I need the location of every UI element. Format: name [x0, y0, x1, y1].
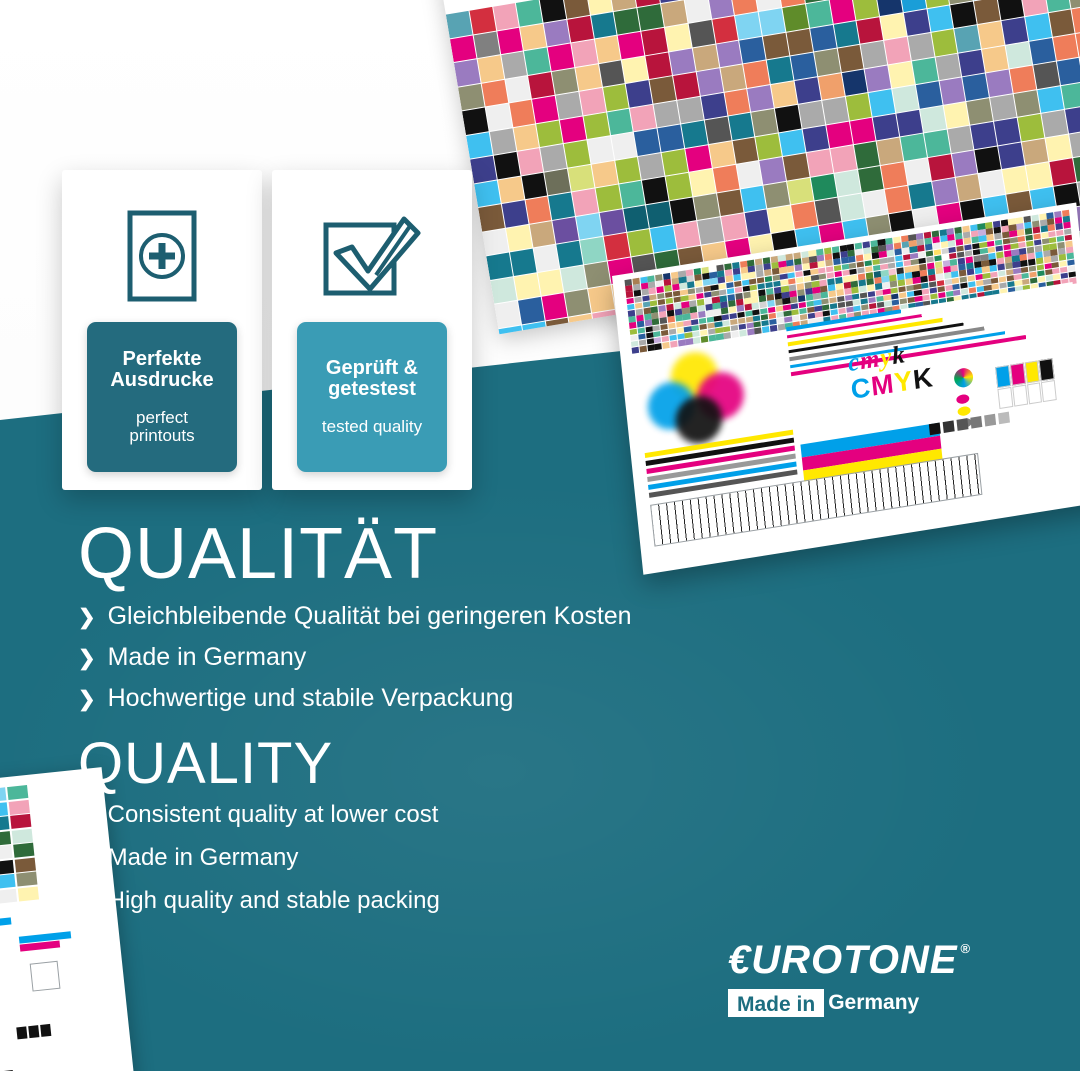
marketing-copy: QUALITÄT ❯ Gleichbleibende Qualität bei …: [78, 518, 632, 932]
cyan-bar: [0, 917, 11, 930]
logo-brand-text: UROTONE: [751, 940, 957, 980]
bullet-text: Made in Germany: [108, 846, 299, 870]
page-plus-icon: [126, 196, 198, 316]
checkbox-pencil-icon: [320, 196, 424, 316]
badge-title: Geprüft & getestest: [326, 358, 418, 400]
bullet-text: High quality and stable packing: [108, 889, 440, 913]
badge-sub-line1: tested quality: [322, 417, 422, 436]
cmyk-rosette: [643, 345, 751, 444]
black-step-blocks-a: [16, 1024, 51, 1039]
badge-perfect-printouts: Perfekte Ausdrucke perfect printouts: [87, 322, 237, 472]
list-item: ❯ Hochwertige und stabile Verpackung: [78, 686, 632, 711]
badge-sub-line1: perfect: [136, 408, 188, 427]
badge-title-line1: Perfekte: [123, 348, 202, 370]
promo-banner: cmyk CMYK: [0, 0, 1080, 1071]
bullet-text: Gleichbleibende Qualität bei geringeren …: [108, 604, 632, 629]
headline-english: QUALITY: [78, 735, 632, 793]
badge-title-line2: Ausdrucke: [110, 369, 213, 391]
bullet-list-german: ❯ Gleichbleibende Qualität bei geringere…: [78, 604, 632, 711]
badge-title-line1: Geprüft &: [326, 357, 418, 379]
list-item: ❯ Made in Germany: [78, 846, 632, 870]
badge-sub-line2: printouts: [129, 426, 194, 445]
chevron-right-icon: ❯: [78, 648, 96, 669]
list-item: ❯ Consistent quality at lower cost: [78, 803, 632, 827]
partial-swatch-grid: [0, 785, 39, 905]
eurotone-logo: €UROTONE® Made in Germany: [728, 940, 971, 1017]
badge-subtitle: tested quality: [322, 418, 422, 436]
logo-country-text: Germany: [824, 989, 919, 1017]
headline-german: QUALITÄT: [78, 518, 632, 590]
bullet-text: Consistent quality at lower cost: [108, 803, 439, 827]
reg-box-a: [30, 961, 61, 992]
feature-card-tested-quality[interactable]: Geprüft & getestest tested quality: [272, 170, 472, 490]
chevron-right-icon: ❯: [78, 607, 96, 628]
feature-card-list: Perfekte Ausdrucke perfect printouts: [62, 170, 472, 490]
badge-title-line2: getestest: [328, 378, 416, 400]
registered-trademark-icon: ®: [961, 942, 972, 955]
chevron-right-icon: ❯: [78, 689, 96, 710]
chevron-right-icon: ❯: [78, 891, 96, 912]
logo-made-in-text: Made in: [728, 989, 824, 1017]
chevron-right-icon: ❯: [78, 805, 96, 826]
list-item: ❯ Made in Germany: [78, 645, 632, 670]
bullet-list-english: ❯ Consistent quality at lower cost ❯ Mad…: [78, 803, 632, 913]
badge-subtitle: perfect printouts: [129, 409, 194, 445]
bullet-text: Made in Germany: [108, 645, 307, 670]
logo-made-in-germany: Made in Germany: [728, 989, 971, 1017]
bullet-text: Hochwertige und stabile Verpackung: [108, 686, 514, 711]
cmyk-patch-block: [995, 358, 1057, 409]
badge-title: Perfekte Ausdrucke: [110, 349, 213, 391]
badge-tested-quality: Geprüft & getestest tested quality: [297, 322, 447, 472]
chevron-right-icon: ❯: [78, 848, 96, 869]
feature-card-perfect-printouts[interactable]: Perfekte Ausdrucke perfect printouts: [62, 170, 262, 490]
logo-euro-symbol: €: [728, 940, 751, 980]
list-item: ❯ Gleichbleibende Qualität bei geringere…: [78, 604, 632, 629]
list-item: ❯ High quality and stable packing: [78, 889, 632, 913]
logo-wordmark: €UROTONE®: [728, 940, 971, 980]
